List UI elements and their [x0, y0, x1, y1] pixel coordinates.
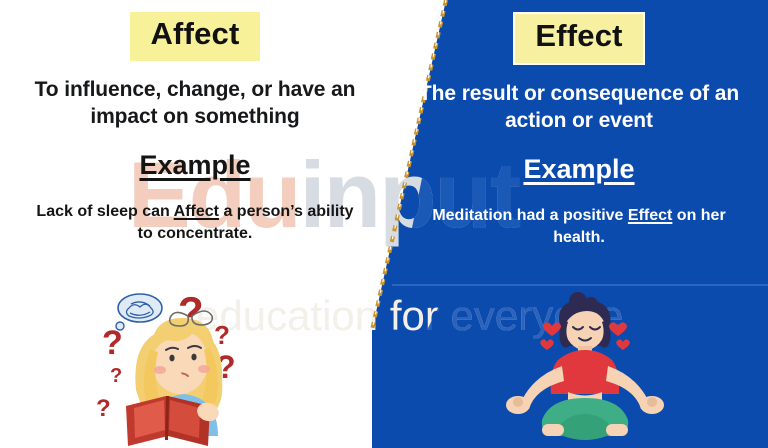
effect-example-heading: Example — [390, 154, 768, 185]
affect-example-heading: Example — [0, 150, 390, 181]
affect-definition: To influence, change, or have an impact … — [30, 77, 360, 131]
effect-column: Effect The result or consequence of an a… — [390, 0, 768, 448]
effect-definition: The result or consequence of an action o… — [411, 81, 747, 135]
woman-meditating-lotus-pose-illustration — [490, 292, 680, 442]
effect-title-wrap: Effect — [390, 12, 768, 65]
affect-title: Affect — [130, 12, 259, 61]
affect-vs-effect-poster: Eduinput Eduinput education for everyone… — [0, 0, 768, 448]
affect-sentence-keyword: Affect — [174, 203, 219, 220]
affect-column: Affect To influence, change, or have an … — [0, 0, 390, 448]
svg-text:?: ? — [110, 365, 122, 387]
svg-text:?: ? — [96, 395, 111, 422]
effect-title: Effect — [513, 12, 644, 65]
affect-title-wrap: Affect — [0, 12, 390, 61]
affect-example-sentence: Lack of sleep can Affect a person’s abil… — [30, 201, 360, 244]
effect-sentence-part1: Meditation had a positive — [432, 207, 628, 224]
effect-example-sentence: Meditation had a positive Effect on her … — [419, 205, 739, 248]
affect-sentence-part1: Lack of sleep can — [36, 203, 173, 220]
svg-text:?: ? — [214, 320, 230, 350]
effect-sentence-keyword: Effect — [628, 207, 672, 224]
svg-text:?: ? — [102, 324, 123, 362]
confused-girl-reading-book-illustration: ? ? ? ? ? ? ? — [96, 286, 306, 446]
